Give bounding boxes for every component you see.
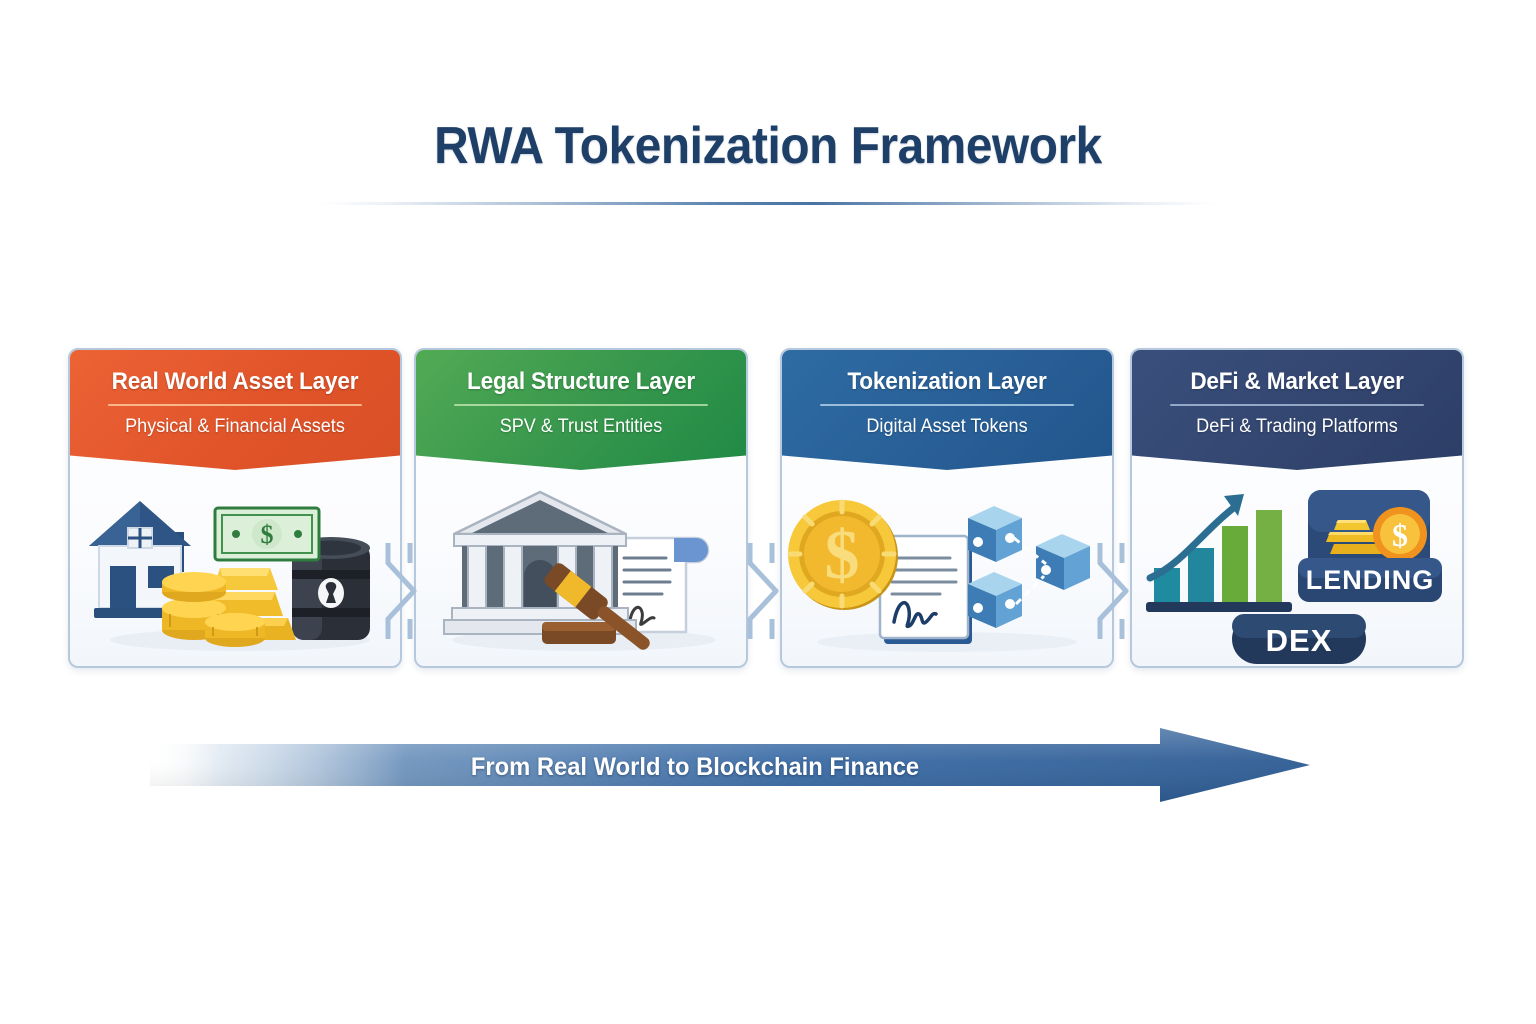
connector-chevron-2 [744,543,788,639]
banknote-icon: $ [215,508,319,560]
card-header-legal-structure-layer: Legal Structure Layer SPV & Trust Entiti… [414,348,748,470]
card-title: Real World Asset Layer [78,368,392,396]
svg-text:DEX: DEX [1266,623,1333,658]
card-tokenization-layer[interactable]: Tokenization Layer Digital Asset Tokens [780,348,1114,668]
title-block: RWA Tokenization Framework [0,118,1536,175]
blockchain-cubes-icon [968,506,1090,628]
card-illustration-defi-market: $ LENDING DEX [1132,472,1462,664]
title-underline-rule [318,202,1218,205]
flow-arrow [150,726,1310,804]
svg-text:LENDING: LENDING [1306,565,1435,595]
card-subtitle: DeFi & Trading Platforms [1138,416,1455,438]
card-title-divider [1170,404,1424,406]
connector-chevron-1 [382,543,426,639]
svg-text:$: $ [1392,517,1408,553]
card-header-defi-market-layer: DeFi & Market Layer DeFi & Trading Platf… [1130,348,1464,470]
card-illustration-real-world-assets: $ [70,472,400,664]
card-header-tokenization-layer: Tokenization Layer Digital Asset Tokens [780,348,1114,470]
card-title: Legal Structure Layer [424,368,738,396]
page-title: RWA Tokenization Framework [61,118,1474,175]
svg-text:$: $ [825,517,860,594]
card-real-world-asset-layer[interactable]: Real World Asset Layer Physical & Financ… [68,348,402,668]
card-legal-structure-layer[interactable]: Legal Structure Layer SPV & Trust Entiti… [414,348,748,668]
card-subtitle: SPV & Trust Entities [422,416,739,438]
card-title-divider [108,404,362,406]
card-subtitle: Digital Asset Tokens [788,416,1105,438]
connector-chevron-3 [1094,543,1138,639]
card-title: DeFi & Market Layer [1140,368,1454,396]
dollar-coin-icon: $ [788,500,898,610]
svg-text:$: $ [261,520,274,549]
lending-badge-icon: $ LENDING [1298,490,1442,602]
card-subtitle: Physical & Financial Assets [76,416,393,438]
card-header-real-world-asset-layer: Real World Asset Layer Physical & Financ… [68,348,402,470]
growth-bar-chart-icon [1146,494,1292,612]
card-title: Tokenization Layer [790,368,1104,396]
card-illustration-tokenization: $ [782,472,1112,664]
card-title-divider [454,404,708,406]
card-defi-market-layer[interactable]: DeFi & Market Layer DeFi & Trading Platf… [1130,348,1464,668]
card-title-divider [820,404,1074,406]
card-illustration-legal-structure [416,472,746,664]
layer-cards-row: Real World Asset Layer Physical & Financ… [0,348,1536,668]
dex-badge-icon: DEX [1232,614,1366,664]
